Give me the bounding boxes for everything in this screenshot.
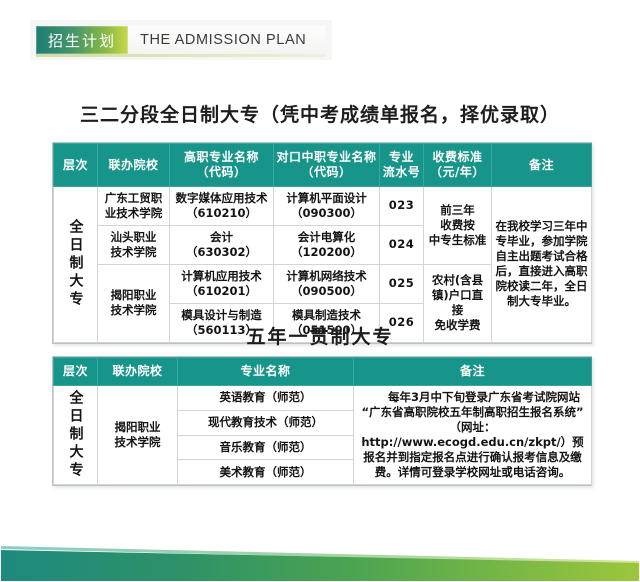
college-major-name: 计算机应用技术 bbox=[173, 269, 270, 284]
col-header-college-major-line2: （代码） bbox=[172, 165, 271, 180]
vocational-major-code: （090500） bbox=[277, 284, 376, 299]
col-header-level-text: 层次 bbox=[63, 158, 88, 172]
school-line1: 揭阳职业 bbox=[101, 420, 174, 435]
col-header-serial-line1: 专业 bbox=[382, 150, 421, 165]
college-major-cell: 会计 （630302） bbox=[170, 225, 274, 264]
col-header-school: 联办院校 bbox=[98, 144, 170, 187]
vocational-major-code: （120200） bbox=[277, 245, 376, 260]
vocational-major-cell: 计算机网络技术 （090500） bbox=[274, 264, 380, 303]
col-header-remark-text: 备注 bbox=[529, 158, 554, 172]
vocational-major-cell: 计算机平面设计 （090300） bbox=[274, 187, 380, 226]
three-two-program-table: 层次 联办院校 高职专业名称 （代码） 对口中职专业名称 （代码） 专业 流水号… bbox=[53, 143, 592, 343]
school-line2: 技术学院 bbox=[101, 303, 166, 318]
table-header-row: 层次 联办院校 高职专业名称 （代码） 对口中职专业名称 （代码） 专业 流水号… bbox=[54, 144, 592, 187]
col-header-remark: 备注 bbox=[354, 358, 592, 386]
vocational-major-cell: 会计电算化 （120200） bbox=[274, 225, 380, 264]
college-major-name: 会计 bbox=[173, 230, 270, 245]
major-cell: 现代教育技术（师范） bbox=[178, 410, 354, 435]
fee-top-line2: 收费按 bbox=[427, 218, 488, 233]
col-header-vocational-major-line2: （代码） bbox=[276, 165, 377, 180]
fee-cell-top: 前三年 收费按 中专生标准 bbox=[424, 187, 492, 265]
col-header-school: 联办院校 bbox=[98, 358, 178, 386]
fee-bottom-line2: 镇)户口直接 bbox=[427, 288, 488, 318]
section-title-five-year: 五年一贯制大专 bbox=[0, 322, 640, 349]
vocational-major-code: （090300） bbox=[277, 206, 376, 221]
col-header-level: 层次 bbox=[54, 358, 98, 386]
col-header-fee-line2: （元/年） bbox=[426, 165, 489, 180]
school-line2: 技术学院 bbox=[101, 245, 166, 260]
college-major-code: （630302） bbox=[173, 245, 270, 260]
col-header-serial-line2: 流水号 bbox=[382, 165, 421, 180]
college-major-code: （610201） bbox=[173, 284, 270, 299]
fee-bottom-line1: 农村(含县 bbox=[427, 273, 488, 288]
school-line2: 业技术学院 bbox=[101, 206, 166, 221]
banner-chinese-title: 招生计划 bbox=[36, 26, 128, 54]
col-header-remark: 备注 bbox=[492, 144, 592, 187]
serial-cell: 023 bbox=[380, 187, 424, 226]
college-major-name: 数字媒体应用技术 bbox=[173, 191, 270, 206]
school-cell: 汕头职业 技术学院 bbox=[98, 225, 170, 264]
five-year-program-table: 层次 联办院校 专业名称 备注 全日制大专 揭阳职业 技术学院 英语教育（师范）… bbox=[53, 357, 592, 485]
vocational-major-name: 会计电算化 bbox=[277, 230, 376, 245]
college-major-code: （610210） bbox=[173, 206, 270, 221]
school-line1: 汕头职业 bbox=[101, 230, 166, 245]
table-row: 全日制大专 揭阳职业 技术学院 英语教育（师范） 每年3月中下旬登录广东省考试院… bbox=[54, 386, 592, 411]
level-label: 全日制大专 bbox=[69, 219, 83, 309]
bottom-band-svg bbox=[0, 542, 640, 582]
five-year-program-table-wrapper: 层次 联办院校 专业名称 备注 全日制大专 揭阳职业 技术学院 英语教育（师范）… bbox=[52, 356, 592, 486]
table-row: 全日制大专 广东工贸职 业技术学院 数字媒体应用技术 （610210） 计算机平… bbox=[54, 187, 592, 226]
remark-cell: 在我校学习三年中专毕业，参加学院自主出题考试合格后，直接进入高职院校读二年，全日… bbox=[492, 187, 592, 343]
school-line1: 广东工贸职 bbox=[101, 191, 166, 206]
level-label: 全日制大专 bbox=[69, 390, 83, 480]
banner-underline bbox=[36, 54, 326, 57]
college-major-cell: 计算机应用技术 （610201） bbox=[170, 264, 274, 303]
fee-top-line1: 前三年 bbox=[427, 203, 488, 218]
remark-cell: 每年3月中下旬登录广东省考试院网站“广东省高职院校五年制高职招生报名系统”（网址… bbox=[354, 386, 592, 485]
school-cell: 广东工贸职 业技术学院 bbox=[98, 187, 170, 226]
fee-top-line3: 中专生标准 bbox=[427, 233, 488, 248]
col-header-vocational-major: 对口中职专业名称 （代码） bbox=[274, 144, 380, 187]
col-header-fee: 收费标准 （元/年） bbox=[424, 144, 492, 187]
col-header-vocational-major-line1: 对口中职专业名称 bbox=[276, 150, 377, 165]
three-two-program-table-wrapper: 层次 联办院校 高职专业名称 （代码） 对口中职专业名称 （代码） 专业 流水号… bbox=[52, 142, 592, 344]
level-cell: 全日制大专 bbox=[54, 386, 98, 485]
school-line2: 技术学院 bbox=[101, 435, 174, 450]
major-cell: 美术教育（师范） bbox=[178, 460, 354, 485]
col-header-major: 专业名称 bbox=[178, 358, 354, 386]
serial-cell: 024 bbox=[380, 225, 424, 264]
col-header-fee-line1: 收费标准 bbox=[426, 150, 489, 165]
col-header-college-major-line1: 高职专业名称 bbox=[172, 150, 271, 165]
college-major-name: 模具设计与制造 bbox=[173, 308, 270, 323]
col-header-college-major: 高职专业名称 （代码） bbox=[170, 144, 274, 187]
col-header-level: 层次 bbox=[54, 144, 98, 187]
college-major-cell: 数字媒体应用技术 （610210） bbox=[170, 187, 274, 226]
vocational-major-name: 计算机平面设计 bbox=[277, 191, 376, 206]
page-banner: 招生计划 THE ADMISSION PLAN bbox=[36, 26, 326, 54]
section-title-three-two: 三二分段全日制大专（凭中考成绩单报名，择优录取） bbox=[0, 100, 640, 127]
school-line1: 揭阳职业 bbox=[101, 288, 166, 303]
col-header-school-text: 联办院校 bbox=[108, 158, 158, 172]
major-cell: 音乐教育（师范） bbox=[178, 435, 354, 460]
bottom-decorative-band bbox=[0, 542, 640, 582]
table-header-row: 层次 联办院校 专业名称 备注 bbox=[54, 358, 592, 386]
vocational-major-name: 模具制造技术 bbox=[277, 308, 376, 323]
vocational-major-name: 计算机网络技术 bbox=[277, 269, 376, 284]
level-cell: 全日制大专 bbox=[54, 187, 98, 343]
school-cell: 揭阳职业 技术学院 bbox=[98, 386, 178, 485]
col-header-serial: 专业 流水号 bbox=[380, 144, 424, 187]
major-cell: 英语教育（师范） bbox=[178, 386, 354, 411]
serial-cell: 025 bbox=[380, 264, 424, 303]
banner-english-title: THE ADMISSION PLAN bbox=[128, 26, 326, 54]
